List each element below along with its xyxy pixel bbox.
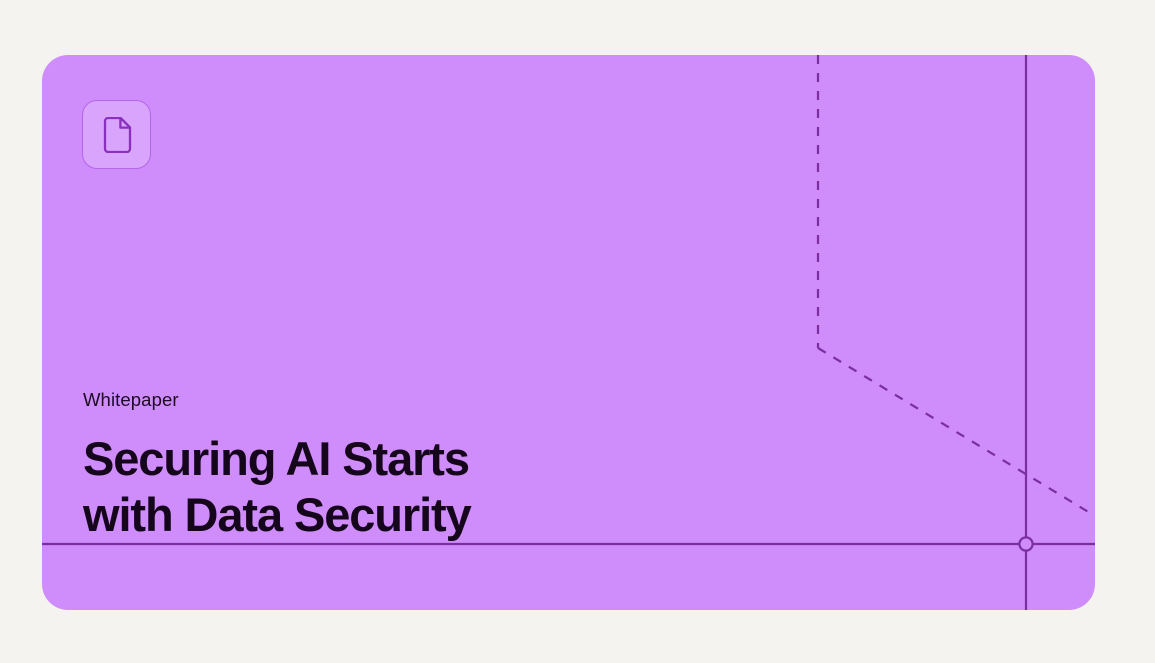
whitepaper-hero-card[interactable]: Whitepaper Securing AI Starts with Data … bbox=[42, 55, 1095, 610]
page-canvas: Whitepaper Securing AI Starts with Data … bbox=[0, 0, 1155, 663]
hero-text-block: Whitepaper Securing AI Starts with Data … bbox=[83, 389, 703, 542]
page-title: Securing AI Starts with Data Security bbox=[83, 431, 703, 542]
dashed-diagonal-line bbox=[818, 348, 1095, 516]
document-icon bbox=[102, 117, 132, 153]
content-type-label: Whitepaper bbox=[83, 389, 703, 411]
intersection-node-marker bbox=[1019, 537, 1032, 550]
document-icon-badge bbox=[82, 100, 151, 169]
